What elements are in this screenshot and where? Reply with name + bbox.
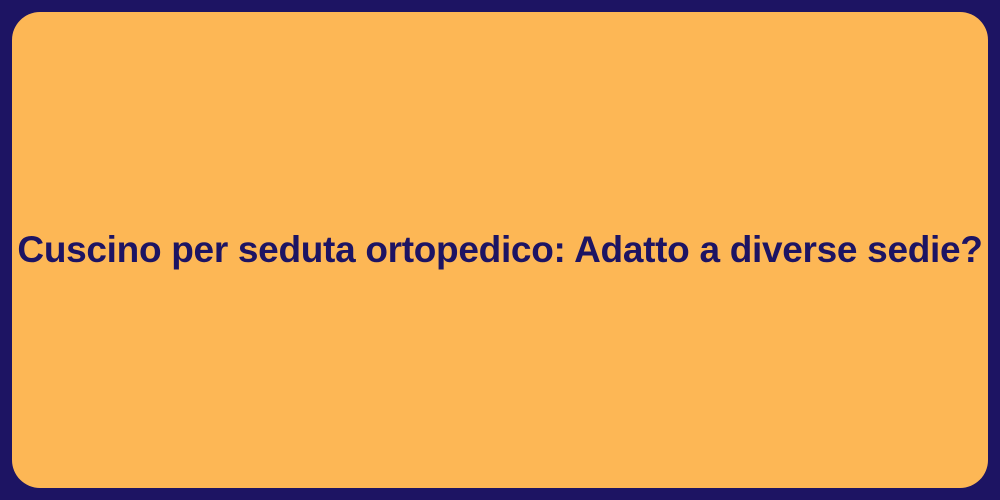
- outer-frame: Cuscino per seduta ortopedico: Adatto a …: [0, 0, 1000, 500]
- content-panel: Cuscino per seduta ortopedico: Adatto a …: [12, 12, 988, 488]
- page-title: Cuscino per seduta ortopedico: Adatto a …: [17, 227, 982, 273]
